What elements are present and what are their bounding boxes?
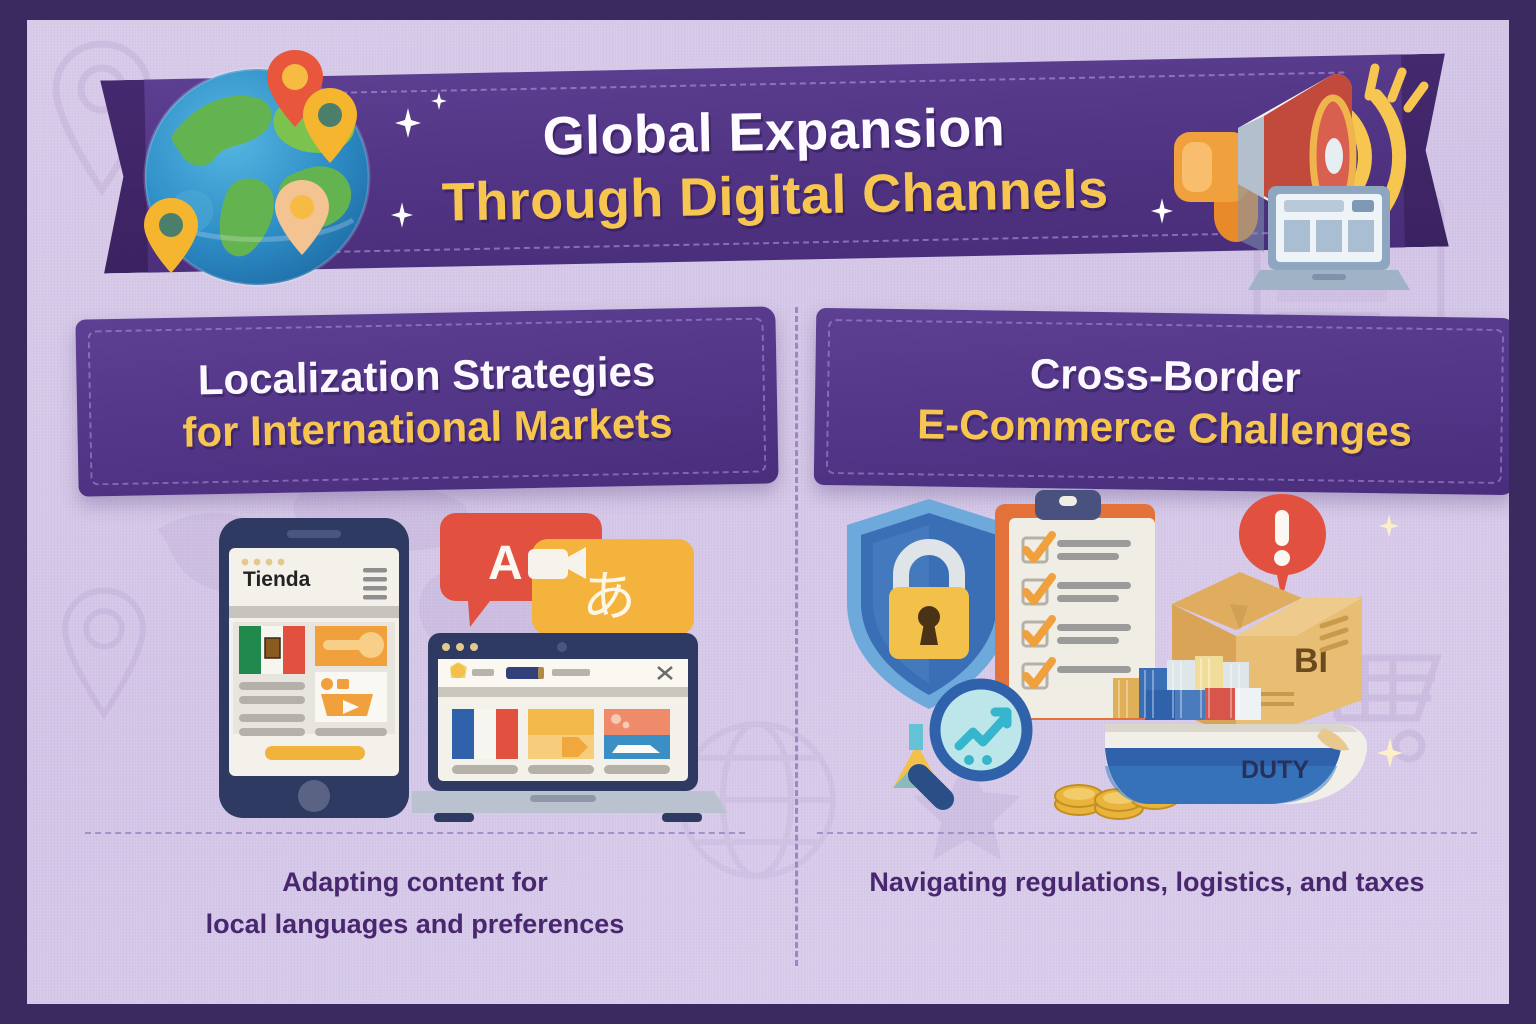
panel-divider-vertical [795,307,798,966]
page-title-line1: Global Expansion [542,96,1006,167]
smartphone-icon: Tienda [219,518,409,818]
panel-heading-line1: Cross-Border [1030,349,1301,401]
megaphone-with-laptop-icon [1152,38,1462,298]
panel-caption-cross-border: Navigating regulations, logistics, and t… [817,862,1477,904]
panel-divider-horizontal-left [85,832,745,834]
magnifier-trend-icon [889,668,1059,838]
panel-caption-localization: Adapting content for local languages and… [85,862,745,946]
svg-text:A: A [488,537,523,590]
svg-text:あ: あ [582,565,636,628]
caption-line1: Navigating regulations, logistics, and t… [817,862,1477,904]
caption-line2: local languages and preferences [85,904,745,946]
page-title-line2: Through Digital Channels [441,158,1109,233]
cargo-ship-icon: DUTY [1105,632,1405,812]
sparkle-icon [391,202,413,233]
panel-heading-line1: Localization Strategies [197,347,655,404]
svg-text:DUTY: DUTY [1241,756,1309,784]
poster-canvas: Global Expansion Through Digital Channel… [27,20,1509,1004]
panel-heading-line2: E-Commerce Challenges [917,400,1413,455]
panel-banner-cross-border: Cross-Border E-Commerce Challenges [814,308,1509,495]
panel-banner-localization: Localization Strategies for Internationa… [75,306,778,496]
caption-line1: Adapting content for [85,862,745,904]
panel-heading-line2: for International Markets [182,399,673,456]
sparkle-icon [395,108,421,143]
sparkle-icon [1377,738,1403,773]
svg-text:Tienda: Tienda [243,568,311,591]
laptop-icon [412,633,727,823]
sparkle-icon [1379,514,1399,543]
globe-with-location-pins-icon [117,42,397,292]
infographic-poster: Global Expansion Through Digital Channel… [0,0,1536,1024]
sparkle-icon [431,92,447,115]
